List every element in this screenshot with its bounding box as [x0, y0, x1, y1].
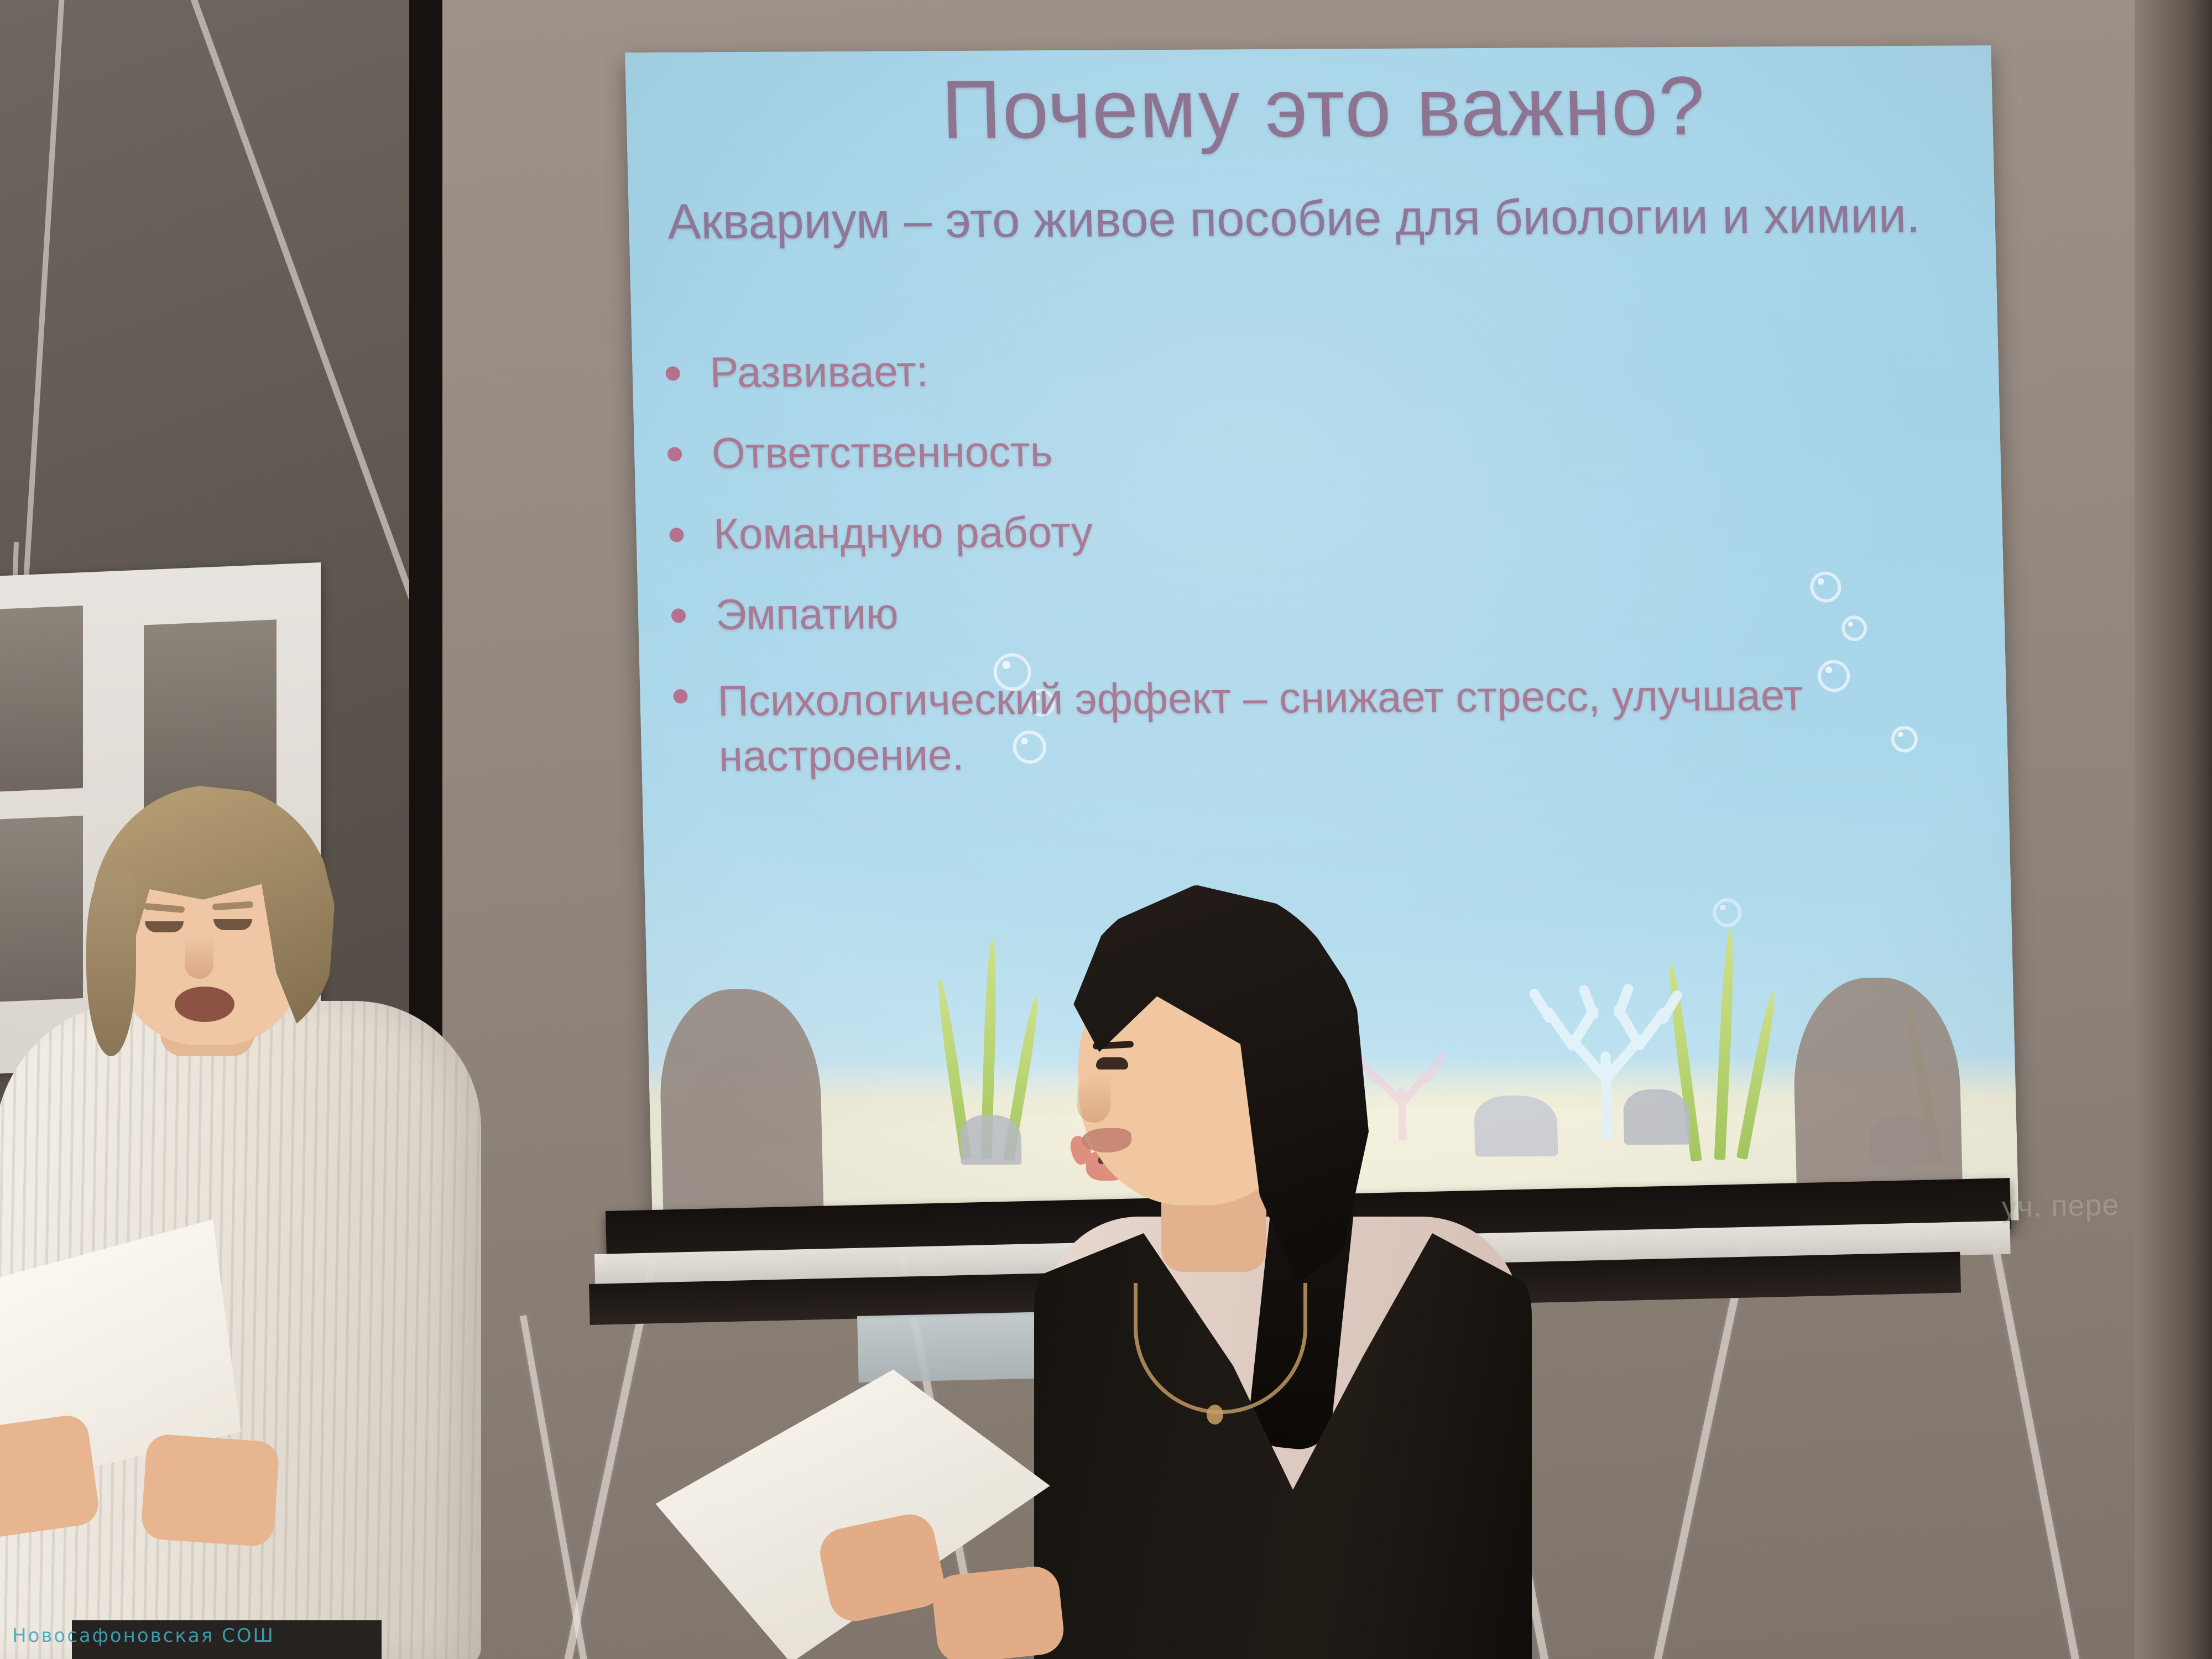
photo-scene: Почему это важно? Аквариум – это живое п…: [0, 0, 2212, 1659]
wall-spill-text: уч. пере: [2001, 1188, 2120, 1224]
necklace-pendant: [1207, 1405, 1223, 1425]
nose: [185, 935, 213, 979]
eye: [213, 919, 252, 930]
hand: [930, 1564, 1066, 1659]
eye: [145, 921, 184, 932]
hair-strand: [86, 874, 136, 1056]
eye: [1096, 1057, 1128, 1070]
hand: [0, 1413, 101, 1540]
watermark: Новосафоновская СОШ: [12, 1625, 275, 1647]
presenter-left: [0, 796, 531, 1659]
presenter-right: [951, 852, 1670, 1659]
hand: [140, 1433, 280, 1547]
mouth: [1082, 1128, 1131, 1152]
right-dark-wall: [2135, 0, 2212, 1659]
shelf-compartment: [0, 606, 83, 794]
nose: [1077, 1073, 1110, 1123]
mouth: [175, 987, 234, 1022]
